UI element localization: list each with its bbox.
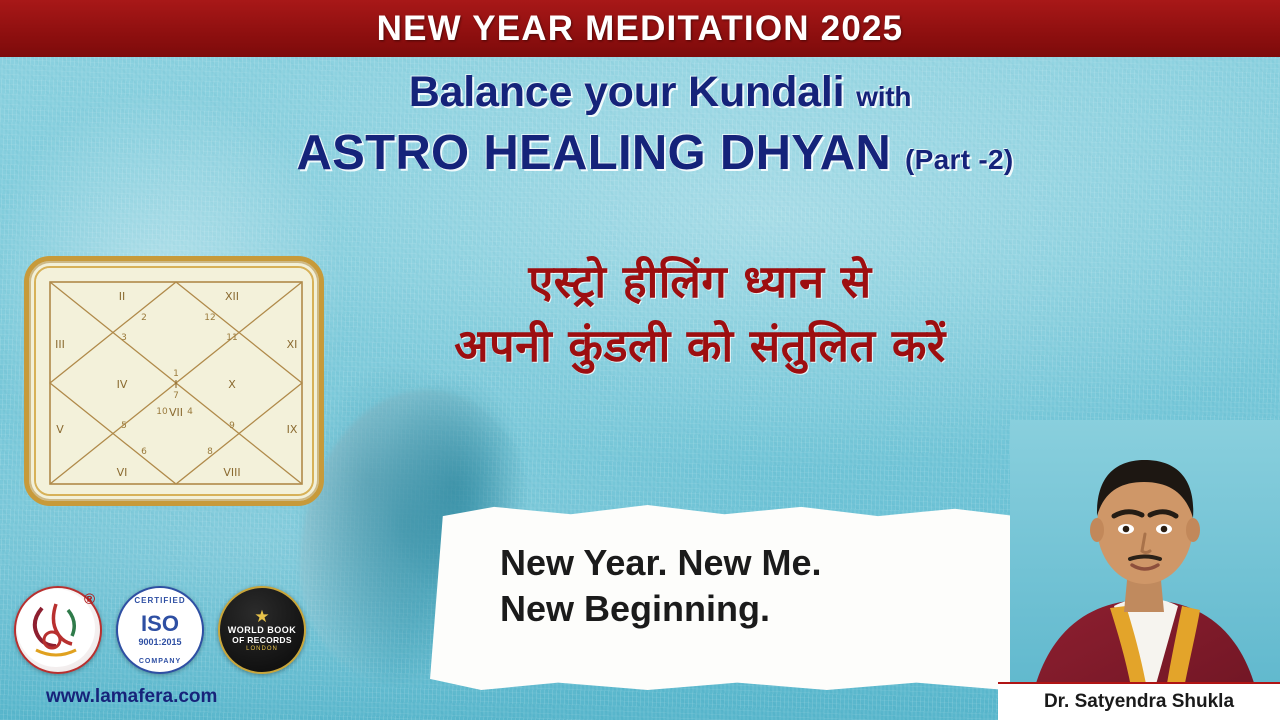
- wbr-line-3: LONDON: [246, 646, 278, 652]
- headline-line-1-with: with: [856, 81, 911, 112]
- world-book-of-records-badge: ★ WORLD BOOK OF RECORDS LONDON: [218, 586, 306, 674]
- svg-text:8: 8: [207, 447, 213, 457]
- svg-text:II: II: [119, 290, 126, 303]
- presenter-name-label: Dr. Satyendra Shukla: [1044, 691, 1234, 713]
- svg-text:6: 6: [141, 447, 147, 457]
- tagline-line-2: New Beginning.: [500, 586, 1020, 632]
- presenter-name-plate: Dr. Satyendra Shukla: [998, 682, 1280, 720]
- top-banner: NEW YEAR MEDITATION 2025: [0, 0, 1280, 57]
- svg-text:2: 2: [141, 313, 147, 323]
- wbr-line-1: WORLD BOOK: [228, 625, 297, 635]
- tagline-line-1: New Year. New Me.: [500, 540, 1020, 586]
- top-banner-title: NEW YEAR MEDITATION 2025: [377, 9, 904, 49]
- svg-text:4: 4: [187, 407, 193, 417]
- iso-main-label: ISO: [141, 613, 179, 635]
- headline-block: Balance your Kundali with ASTRO HEALING …: [0, 68, 1280, 181]
- svg-text:5: 5: [121, 421, 127, 431]
- iso-arc-bottom-label: COMPANY: [118, 658, 202, 665]
- svg-text:III: III: [55, 338, 65, 351]
- certification-badges: CERTIFIED ISO 9001:2015 COMPANY ★ WORLD …: [14, 586, 306, 674]
- headline-part-label: (Part -2): [905, 144, 1014, 175]
- headline-line-1: Balance your Kundali with: [0, 68, 1280, 117]
- headline-line-1-main: Balance your Kundali: [409, 68, 845, 116]
- registered-trademark-mark: ®: [84, 591, 95, 608]
- kundali-diagram: II XII III XI IV X V IX VI VIII I VII 2 …: [36, 268, 314, 496]
- svg-text:VI: VI: [117, 466, 128, 479]
- iso-arc-top-label: CERTIFIED: [118, 596, 202, 605]
- tagline-block: New Year. New Me. New Beginning.: [500, 540, 1020, 632]
- iso-certification-badge: CERTIFIED ISO 9001:2015 COMPANY: [116, 586, 204, 674]
- presenter-photo: [1010, 420, 1280, 720]
- svg-text:11: 11: [226, 333, 237, 343]
- poster-canvas: NEW YEAR MEDITATION 2025 Balance your Ku…: [0, 0, 1280, 720]
- svg-text:IX: IX: [287, 423, 298, 436]
- presenter-portrait-illustration: [1010, 420, 1280, 720]
- website-url[interactable]: www.lamafera.com: [46, 686, 217, 708]
- star-icon: ★: [254, 608, 269, 625]
- headline-line-2: ASTRO HEALING DHYAN (Part -2): [0, 125, 1280, 181]
- svg-text:IV: IV: [117, 378, 128, 391]
- svg-text:XII: XII: [225, 290, 239, 303]
- svg-text:9: 9: [229, 421, 235, 431]
- headline-line-2-main: ASTRO HEALING DHYAN: [296, 126, 891, 180]
- svg-text:XI: XI: [287, 338, 298, 351]
- svg-text:V: V: [56, 423, 64, 436]
- wbr-line-2: OF RECORDS: [232, 635, 292, 645]
- kundali-inner-frame: II XII III XI IV X V IX VI VIII I VII 2 …: [34, 266, 314, 496]
- svg-text:I: I: [174, 378, 177, 391]
- svg-text:VII: VII: [169, 406, 183, 419]
- svg-text:12: 12: [204, 313, 215, 323]
- svg-text:1: 1: [173, 369, 179, 379]
- iso-standard-label: 9001:2015: [138, 637, 181, 647]
- svg-text:10: 10: [156, 407, 168, 417]
- svg-text:X: X: [228, 378, 236, 391]
- svg-text:VIII: VIII: [223, 466, 240, 479]
- svg-text:7: 7: [173, 391, 179, 401]
- kundali-chart-card: II XII III XI IV X V IX VI VIII I VII 2 …: [24, 256, 324, 506]
- svg-text:3: 3: [121, 333, 127, 343]
